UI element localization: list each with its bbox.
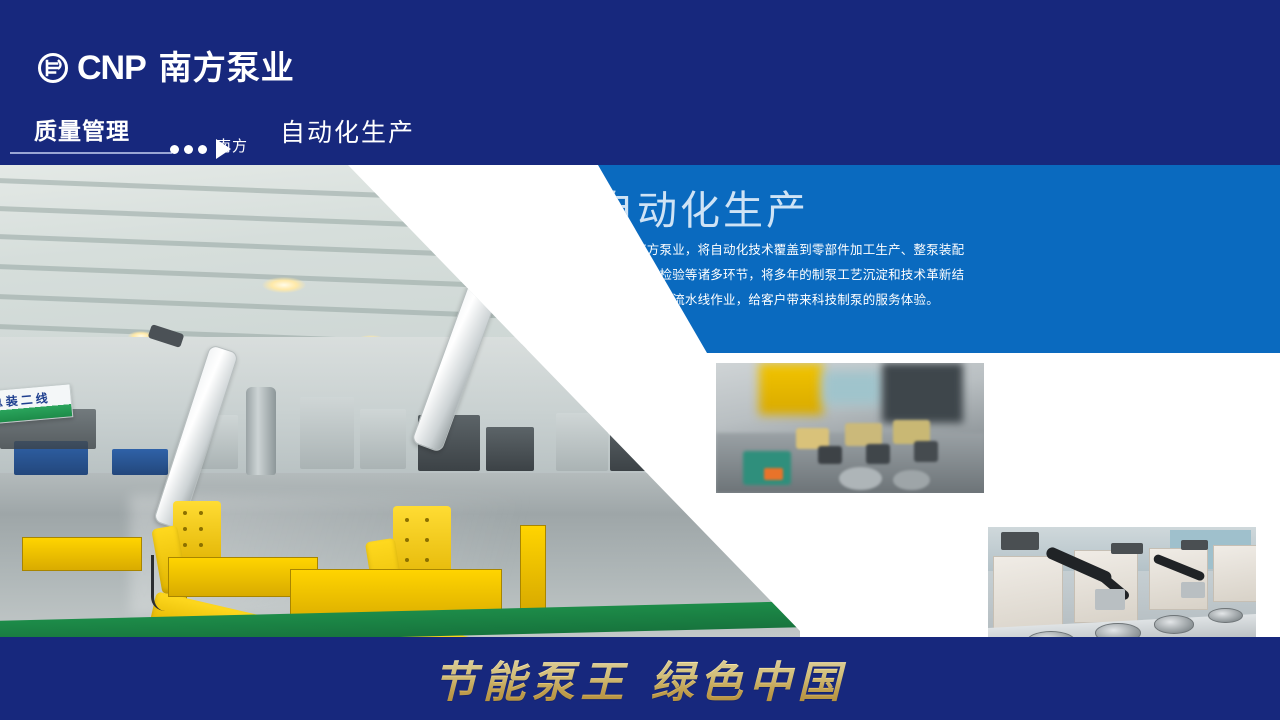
panel-heading: 自动化生产 [594, 178, 809, 236]
thumb-assembly-bench[interactable] [716, 363, 984, 493]
thumb-robot-arm[interactable] [988, 527, 1256, 637]
brand-logo-latin: CNP [77, 53, 146, 83]
panel-line-1: 如今的南方泵业，将自动化技术覆盖到零部件加工生产、整泵装配 [596, 237, 1016, 262]
content-panel: 自动化生产 如今的南方泵业，将自动化技术覆盖到零部件加工生产、整泵装配 调试、出… [576, 165, 1280, 353]
robot-pallet [22, 537, 142, 571]
robot-hose [151, 555, 169, 611]
page-header: CNP 南方泵业 质量管理 南方 自动化生产 [0, 0, 1280, 165]
brand-logo-cjk: 南方泵业 [159, 53, 295, 83]
panel-line-2: 调试、出厂检验等诸多环节，将多年的制泵工艺沉淀和技术革新结 [596, 262, 1016, 287]
brand-logo[interactable]: CNP 南方泵业 [38, 53, 295, 83]
header-rule [10, 152, 172, 154]
robot-rail-cap [406, 196, 445, 222]
workshop-sign-text: 总装二线 [0, 389, 51, 411]
header-section-title: 自动化生产 [280, 113, 415, 149]
dot-1 [170, 145, 179, 154]
robot-boom [781, 509, 800, 613]
slide-stage: 总装二线 [0, 165, 1280, 637]
header-sub-label: 南方 [216, 135, 248, 156]
panel-line-3: 合到定制化的流水线作业，给客户带来科技制泵的服务体验。 [596, 287, 1016, 312]
header-left-title: 质量管理 [34, 112, 130, 146]
robot-post [520, 525, 546, 609]
robot-rail-cap [148, 324, 185, 348]
dot-2 [184, 145, 193, 154]
cnp-emblem-icon [38, 53, 68, 83]
panel-body: 如今的南方泵业，将自动化技术覆盖到零部件加工生产、整泵装配 调试、出厂检验等诸多… [596, 237, 1016, 312]
page-footer: 节能泵王 绿色中国 [0, 637, 1280, 720]
footer-slogan: 节能泵王 绿色中国 [0, 648, 1280, 710]
dot-3 [198, 145, 207, 154]
